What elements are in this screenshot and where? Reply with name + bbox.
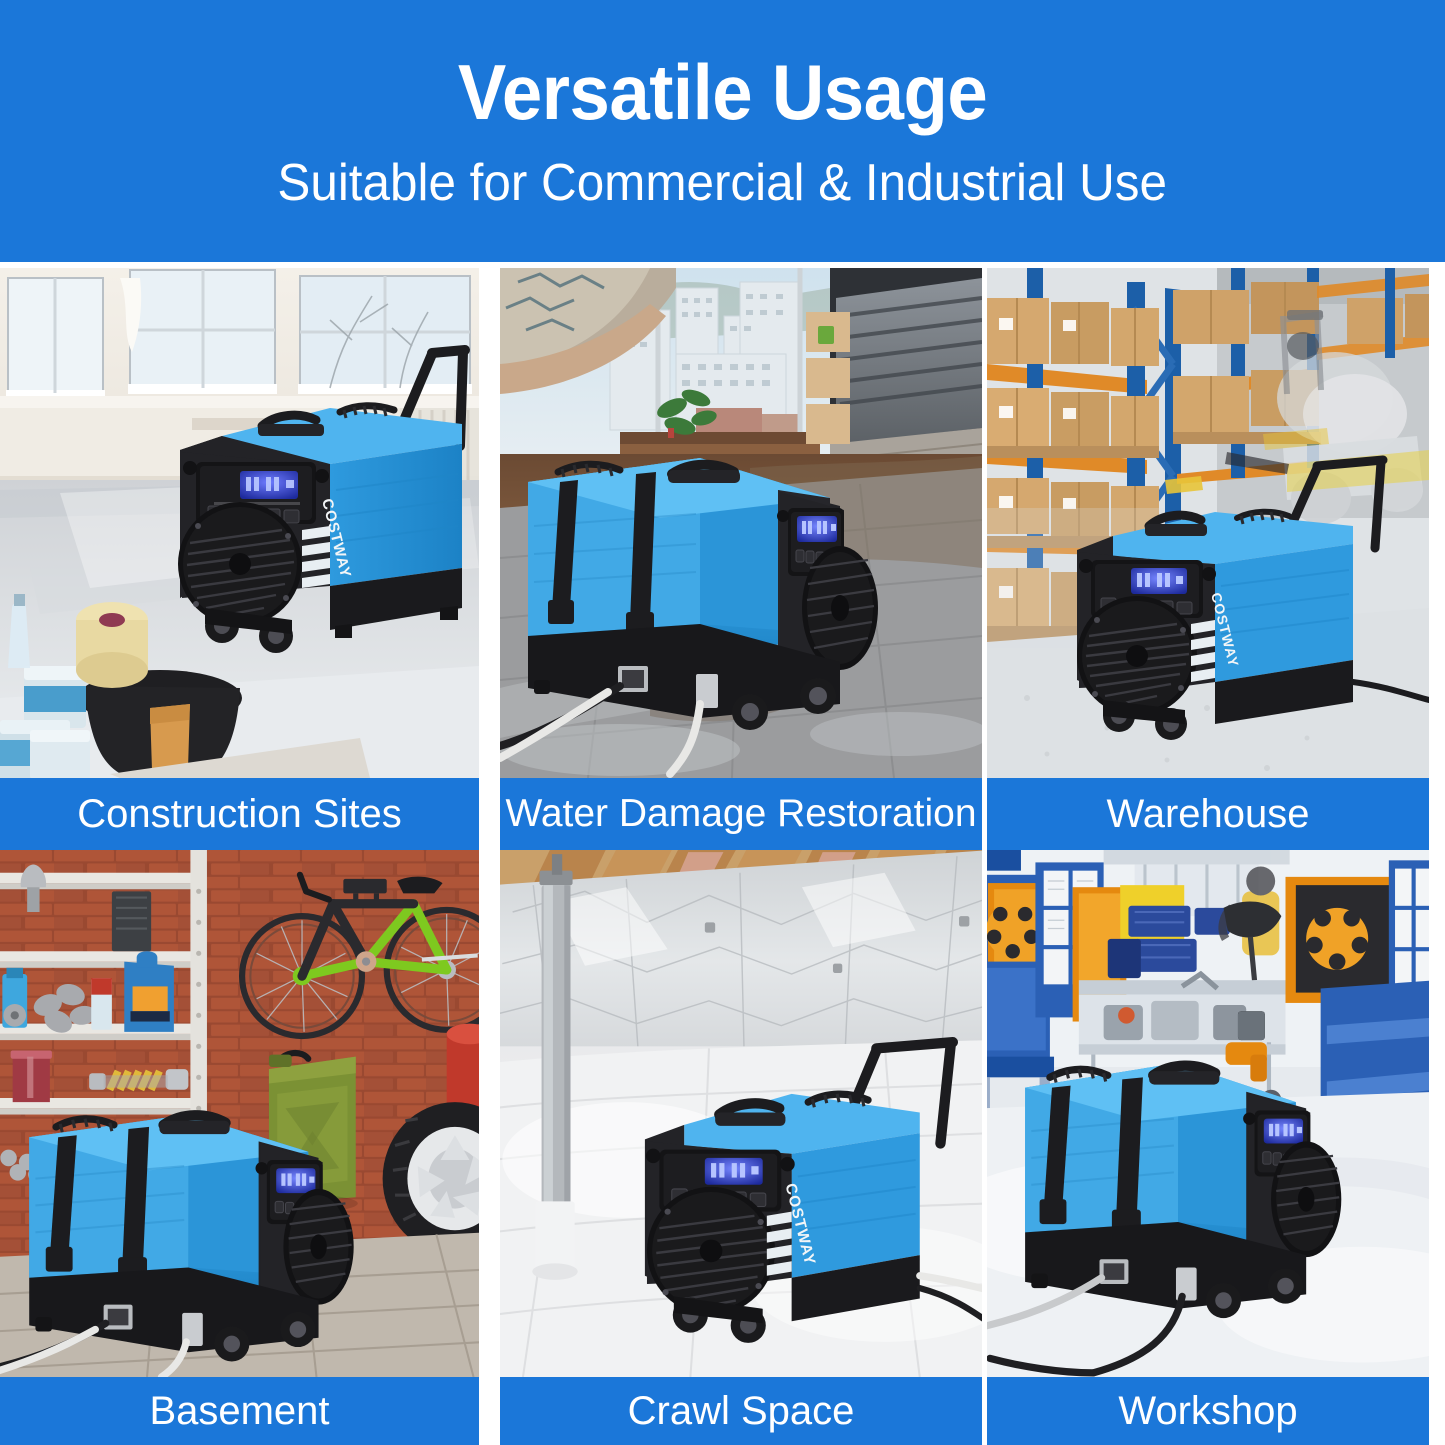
- scenario-card-construction-sites[interactable]: COSTWAY: [0, 268, 492, 850]
- scenario-card-crawl-space[interactable]: COSTWAY Crawl Space: [492, 850, 984, 1445]
- scene-photo-warehouse: COSTWAY: [987, 268, 1429, 778]
- scenario-caption-construction-sites: Construction Sites: [0, 778, 479, 850]
- scenario-card-water-damage-restoration[interactable]: Water Damage Restoration: [492, 268, 984, 850]
- scenario-caption-workshop: Workshop: [987, 1377, 1429, 1445]
- scenario-card-warehouse[interactable]: COSTWAY Warehouse: [984, 268, 1445, 850]
- infographic-page: Versatile Usage Suitable for Commercial …: [0, 0, 1445, 1445]
- page-subtitle: Suitable for Commercial & Industrial Use: [278, 157, 1168, 209]
- usage-scenario-grid: COSTWAY: [0, 268, 1445, 1445]
- scenario-card-basement[interactable]: Basement: [0, 850, 492, 1445]
- scene-photo-crawl-space: COSTWAY: [500, 850, 982, 1377]
- scenario-caption-crawl-space: Crawl Space: [500, 1377, 982, 1445]
- scene-photo-construction: COSTWAY: [0, 268, 479, 778]
- page-title: Versatile Usage: [458, 53, 987, 131]
- scene-photo-workshop: [987, 850, 1429, 1377]
- scenario-caption-water-damage-restoration: Water Damage Restoration: [500, 778, 982, 850]
- scene-photo-basement: [0, 850, 479, 1377]
- scenario-caption-warehouse: Warehouse: [987, 778, 1429, 850]
- scenario-card-workshop[interactable]: Workshop: [984, 850, 1445, 1445]
- scenario-caption-basement: Basement: [0, 1377, 479, 1445]
- scene-photo-water-damage: [500, 268, 982, 778]
- header-banner: Versatile Usage Suitable for Commercial …: [0, 0, 1445, 262]
